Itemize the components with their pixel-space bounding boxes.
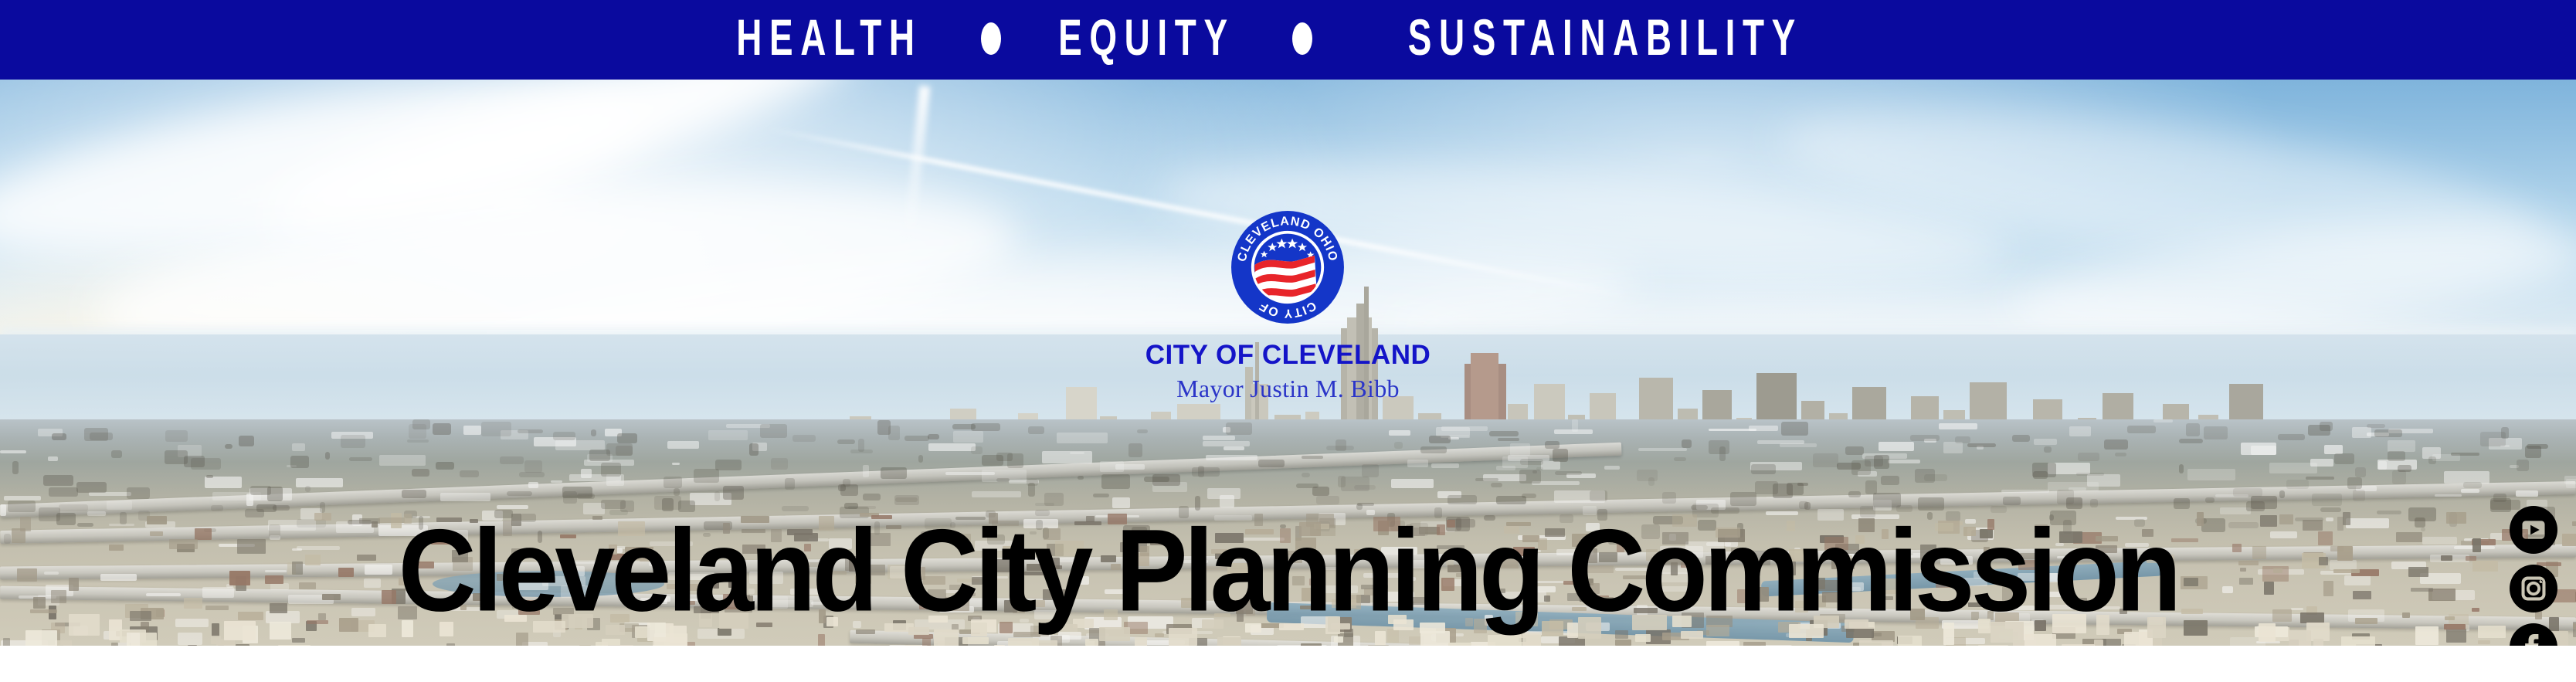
social-link-youtube[interactable]: [2510, 506, 2557, 554]
building: [2094, 640, 2103, 646]
social-link-facebook[interactable]: [2510, 623, 2557, 646]
rooftop: [292, 638, 305, 643]
building: [2289, 630, 2311, 646]
building: [1008, 638, 1039, 646]
city-of-cleveland-label: CITY OF CLEVELAND: [0, 340, 2576, 371]
building: [127, 633, 140, 646]
rooftop: [2102, 639, 2121, 646]
mayor-name-label: Mayor Justin M. Bibb: [0, 375, 2576, 403]
facebook-icon: [2510, 623, 2557, 646]
bottom-whitespace: [0, 646, 2576, 682]
building: [2024, 634, 2056, 646]
building: [2341, 636, 2375, 646]
social-links: [2510, 506, 2557, 646]
building: [25, 630, 57, 646]
rooftop: [922, 638, 931, 646]
youtube-icon: [2510, 506, 2557, 554]
rooftop: [2446, 629, 2466, 643]
building: [2415, 626, 2439, 645]
page-title: Cleveland City Planning Commission: [0, 512, 2576, 629]
tagline-word-sustainability: SUSTAINABILITY: [1408, 13, 1803, 64]
tagline-banner-inner: HEALTH EQUITY SUSTAINABILITY: [704, 15, 1872, 63]
building: [1488, 635, 1522, 646]
building: [2313, 639, 2323, 646]
building: [1334, 636, 1343, 643]
rooftop: [2478, 640, 2490, 644]
tagline-word-health: HEALTH: [737, 13, 922, 64]
tagline-banner: HEALTH EQUITY SUSTAINABILITY: [0, 0, 2576, 80]
tagline-word-equity: EQUITY: [1058, 13, 1235, 64]
tagline-separator-dot-2: [1292, 22, 1312, 55]
city-seal: CLEVELAND OHIO CITY OF: [1229, 209, 1346, 326]
building: [55, 640, 72, 646]
rooftop: [818, 634, 825, 646]
building: [1859, 640, 1893, 646]
page-root: HEALTH EQUITY SUSTAINABILITY: [0, 0, 2576, 682]
hero-photo: CLEVELAND OHIO CITY OF: [0, 80, 2576, 646]
rooftop: [1615, 640, 1631, 646]
social-link-instagram[interactable]: [2510, 565, 2557, 612]
building: [1217, 637, 1241, 646]
building: [1085, 639, 1098, 646]
building: [962, 637, 989, 644]
building: [211, 636, 221, 644]
building: [1898, 636, 1922, 646]
rooftop: [3, 638, 10, 646]
tagline-separator-dot-1: [981, 22, 1001, 55]
building: [1135, 637, 1147, 646]
instagram-icon: [2510, 565, 2557, 612]
